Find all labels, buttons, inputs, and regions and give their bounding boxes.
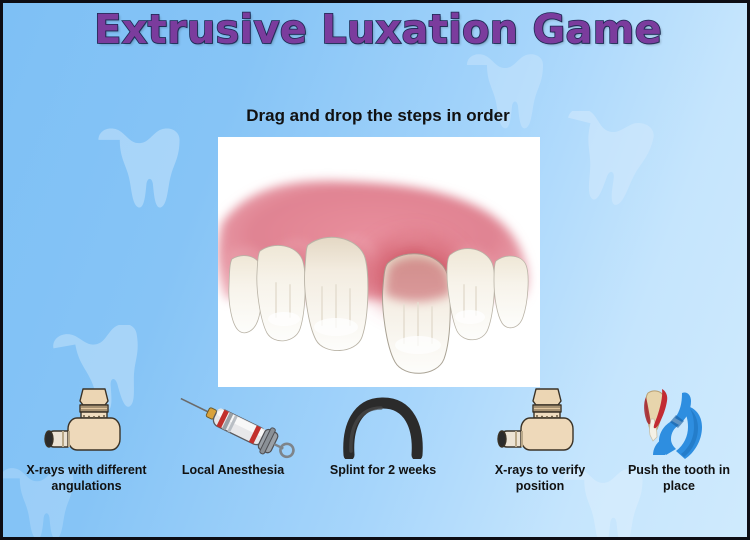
gloved-hand-tooth-icon[interactable]: [609, 385, 749, 459]
step-card-push-tooth[interactable]: Push the tooth in place: [609, 385, 749, 494]
background-tooth-watermark: [543, 111, 661, 215]
step-card-splint[interactable]: Splint for 2 weeks: [303, 385, 463, 479]
title-container: Extrusive Luxation Game: [3, 7, 750, 53]
steps-row: X-rays with different angulations: [3, 385, 750, 537]
splint-arch-icon[interactable]: [303, 385, 463, 459]
extrusive-luxation-illustration: [218, 137, 540, 387]
game-canvas: Extrusive Luxation Game Drag and drop th…: [0, 0, 750, 540]
background-tooth-watermark: [85, 125, 193, 221]
syringe-icon[interactable]: [163, 385, 303, 459]
page-title: Extrusive Luxation Game: [94, 7, 662, 53]
instruction-text: Drag and drop the steps in order: [3, 106, 750, 126]
step-label: Splint for 2 weeks: [303, 463, 463, 479]
step-label: Local Anesthesia: [163, 463, 303, 479]
step-card-local-anesthesia[interactable]: Local Anesthesia: [163, 385, 303, 479]
xray-machine-icon[interactable]: [465, 385, 615, 459]
xray-machine-icon[interactable]: [9, 385, 164, 459]
background-tooth-watermark: [455, 51, 555, 141]
step-label: X-rays with different angulations: [9, 463, 164, 494]
step-label: Push the tooth in place: [609, 463, 749, 494]
step-card-xray-verify[interactable]: X-rays to verify position: [465, 385, 615, 494]
step-card-xray-angulations[interactable]: X-rays with different angulations: [9, 385, 164, 494]
step-label: X-rays to verify position: [465, 463, 615, 494]
